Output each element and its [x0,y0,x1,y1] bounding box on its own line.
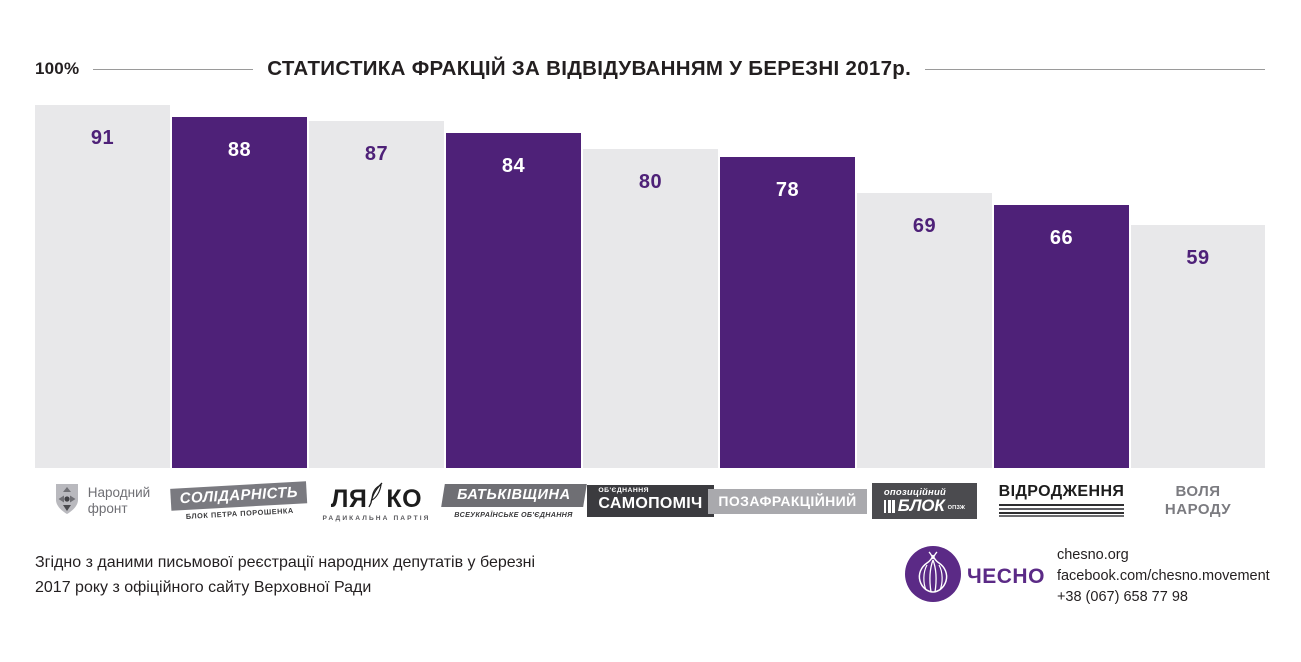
logo-samopomich[interactable]: ОБ'ЄДНАННЯ САМОПОМІЧ [583,470,718,532]
logo-samopomich-big: САМОПОМІЧ [598,496,702,512]
bar-narodny-front[interactable]: 91 [35,105,170,468]
chesno-logo[interactable]: ЧЕСНО [905,546,1045,607]
bar-vidrodzhennya[interactable]: 66 [994,205,1129,468]
bar-volya-narodu[interactable]: 59 [1131,225,1265,468]
logo-pozafraktsiiny-label: ПОЗАФРАКЦІЙНИЙ [708,489,866,514]
feather-icon [367,482,386,513]
bar-column-samopomich: 80 [583,149,718,468]
bar-column-solidarnist: 88 [172,117,307,468]
bar-samopomich[interactable]: 80 [583,149,718,468]
logo-solidarnist[interactable]: СОЛІДАРНІСТЬ БЛОК ПЕТРА ПОРОШЕНКА [172,470,307,532]
logo-volya-line1: ВОЛЯ [1175,483,1220,500]
bar-value-volya-narodu: 59 [1131,247,1265,270]
source-note-line1: Згідно з даними письмової реєстрації нар… [35,551,675,576]
bar-value-lyashko: 87 [309,143,444,166]
logo-pozafraktsiiny[interactable]: ПОЗАФРАКЦІЙНИЙ [720,470,855,532]
infographic-root: 100% СТАТИСТИКА ФРАКЦІЙ ЗА ВІДВІДУВАННЯМ… [0,0,1301,662]
bar-value-opozytsiiny-blok: 69 [857,215,992,238]
contact-website[interactable]: chesno.org [1057,545,1270,566]
logo-lyashko-part2: КО [386,485,422,513]
contact-facebook[interactable]: facebook.com/chesno.movement [1057,566,1270,587]
nf-line2: фронт [88,501,128,516]
source-note-line2: 2017 року з офіційного сайту Верховної Р… [35,576,675,601]
logo-lyashko[interactable]: ЛЯ КО РАДИКАЛЬНА ПАРТІЯ [309,470,444,532]
logo-samopomich-small: ОБ'ЄДНАННЯ [598,488,702,495]
bar-value-vidrodzhennya: 66 [994,227,1129,250]
vidrodzhennya-stripes-icon [999,504,1125,517]
bar-value-batkivshchyna: 84 [446,155,581,178]
bar-value-solidarnist: 88 [172,139,307,162]
bar-column-narodny-front: 91 [35,105,170,468]
bar-batkivshchyna[interactable]: 84 [446,133,581,468]
logo-lyashko-part1: ЛЯ [331,485,368,513]
bar-column-vidrodzhennya: 66 [994,205,1129,468]
logo-batkivshchyna[interactable]: БАТЬКІВЩИНА ВСЕУКРАЇНСЬКЕ ОБ'ЄДНАННЯ [446,470,581,532]
logo-narodny-front-text: Народний фронт [88,485,150,518]
contact-info: chesno.org facebook.com/chesno.movement … [1057,545,1270,608]
source-note: Згідно з даними письмової реєстрації нар… [35,551,675,601]
bar-column-volya-narodu: 59 [1131,225,1265,468]
logo-vidrodzhennya[interactable]: ВІДРОДЖЕННЯ [994,470,1129,532]
stripes-icon [884,500,895,513]
bar-column-lyashko: 87 [309,121,444,468]
party-logo-row: Народний фронт СОЛІДАРНІСТЬ БЛОК ПЕТРА П… [35,470,1265,532]
logo-narodny-front[interactable]: Народний фронт [35,470,170,532]
axis-max-label: 100% [35,59,79,79]
logo-volya-narodu[interactable]: ВОЛЯ НАРОДУ [1131,470,1265,532]
logo-opozytsiiny-tag: ОПЗЖ [948,506,966,514]
garlic-icon [905,546,961,607]
chart-header: 100% СТАТИСТИКА ФРАКЦІЙ ЗА ВІДВІДУВАННЯМ… [35,53,1265,85]
page-title: СТАТИСТИКА ФРАКЦІЙ ЗА ВІДВІДУВАННЯМ У БЕ… [267,57,911,81]
bar-chart-plot: 91 88 87 84 80 78 [35,105,1265,468]
bar-value-narodny-front: 91 [35,127,170,150]
bar-pozafraktsiiny[interactable]: 78 [720,157,855,468]
chesno-wordmark: ЧЕСНО [967,565,1045,589]
logo-batkivshchyna-sub: ВСЕУКРАЇНСЬКЕ ОБ'ЄДНАННЯ [443,510,585,519]
logo-opozytsiiny-big: БЛОК [898,499,945,513]
bar-lyashko[interactable]: 87 [309,121,444,468]
nf-line1: Народний [88,485,150,500]
brand-block: ЧЕСНО chesno.org facebook.com/chesno.mov… [905,545,1270,608]
bar-value-samopomich: 80 [583,171,718,194]
bar-column-opozytsiiny-blok: 69 [857,193,992,468]
header-rule-left [93,69,253,70]
logo-opozytsiiny-blok[interactable]: опозиційний БЛОК ОПЗЖ [857,470,992,532]
bar-column-pozafraktsiiny: 78 [720,157,855,468]
header-rule-right [925,69,1265,70]
logo-vidrodzhennya-title: ВІДРОДЖЕННЯ [999,483,1125,501]
logo-lyashko-sub: РАДИКАЛЬНА ПАРТІЯ [323,515,431,522]
logo-volya-line2: НАРОДУ [1165,501,1231,518]
contact-phone: +38 (067) 658 77 98 [1057,587,1270,608]
bar-opozytsiiny-blok[interactable]: 69 [857,193,992,468]
bar-column-batkivshchyna: 84 [446,133,581,468]
bar-value-pozafraktsiiny: 78 [720,179,855,202]
shield-icon [55,483,79,520]
logo-batkivshchyna-main: БАТЬКІВЩИНА [457,487,571,503]
bar-solidarnist[interactable]: 88 [172,117,307,468]
